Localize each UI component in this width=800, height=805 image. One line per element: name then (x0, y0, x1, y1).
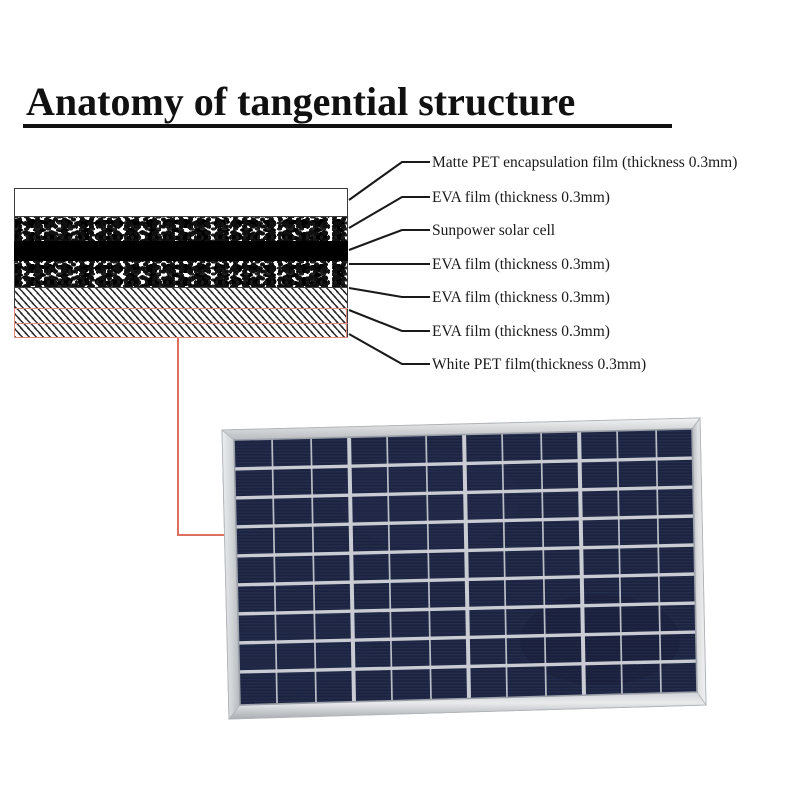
diagram-page: Anatomy of tangential structure (0, 0, 800, 800)
solar-panel (0, 0, 800, 800)
solar-panel-svg (0, 0, 800, 800)
panel-cell-field (230, 424, 702, 712)
